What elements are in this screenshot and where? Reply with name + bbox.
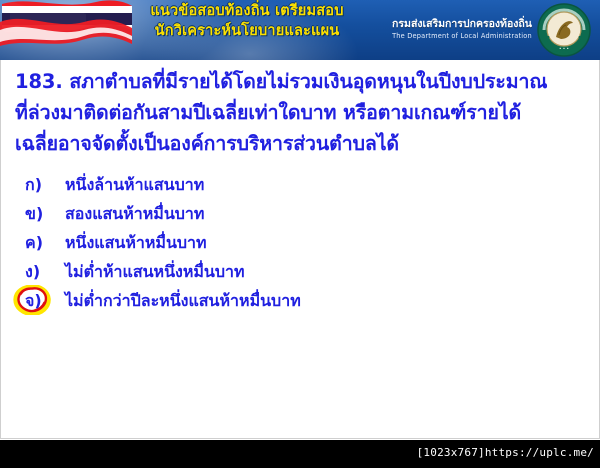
banner-title-line2: นักวิเคราะห์นโยบายและแผน	[112, 23, 382, 40]
choice-label: สองแสนห้าหมื่นบาท	[65, 202, 204, 227]
question-sheet: 183. สภาตำบลที่มีรายได้โดยไม่รวมเงินอุดห…	[0, 60, 600, 439]
choice-key: จ)	[25, 289, 65, 314]
choice-option-ngo[interactable]: ง) ไม่ต่ำห้าแสนหนึ่งหมื่นบาท	[25, 260, 585, 289]
choice-key: ง)	[25, 260, 65, 285]
banner-title: แนวข้อสอบท้องถิ่น เตรียมสอบ นักวิเคราะห์…	[112, 3, 382, 40]
choice-key: ข)	[25, 202, 65, 227]
choice-option-kho[interactable]: ข) สองแสนห้าหมื่นบาท	[25, 202, 585, 231]
choice-label: หนึ่งแสนห้าหมื่นบาท	[65, 231, 207, 256]
choice-option-cho-selected[interactable]: จ) ไม่ต่ำกว่าปีละหนึ่งแสนห้าหมื่นบาท	[25, 289, 585, 321]
department-emblem-icon: • • •	[536, 2, 592, 58]
choice-key: ก)	[25, 173, 65, 198]
question-line-1: 183. สภาตำบลที่มีรายได้โดยไม่รวมเงินอุดห…	[15, 66, 593, 97]
department-name-english: The Department of Local Administration	[388, 32, 536, 40]
header-banner: แนวข้อสอบท้องถิ่น เตรียมสอบ นักวิเคราะห์…	[0, 0, 600, 60]
question-line-3: เฉลี่ยอาจจัดตั้งเป็นองค์การบริหารส่วนตำบ…	[15, 128, 593, 159]
question-line-2: ที่ล่วงมาติดต่อกันสามปีเฉลี่ยเท่าใดบาท ห…	[15, 97, 593, 128]
slide-canvas: แนวข้อสอบท้องถิ่น เตรียมสอบ นักวิเคราะห์…	[0, 0, 600, 468]
choice-option-ka[interactable]: ก) หนึ่งล้านห้าแสนบาท	[25, 173, 585, 202]
footer-watermark-bar: [1023x767]https://uplc.me/	[0, 440, 600, 468]
banner-title-line1: แนวข้อสอบท้องถิ่น เตรียมสอบ	[112, 3, 382, 20]
department-name: กรมส่งเสริมการปกครองท้องถิ่น The Departm…	[388, 18, 536, 40]
watermark-label: [1023x767]https://uplc.me/	[417, 446, 594, 459]
choice-list: ก) หนึ่งล้านห้าแสนบาท ข) สองแสนห้าหมื่นบ…	[25, 173, 585, 321]
department-name-thai: กรมส่งเสริมการปกครองท้องถิ่น	[388, 18, 536, 30]
choice-label: หนึ่งล้านห้าแสนบาท	[65, 173, 204, 198]
choice-key: ค)	[25, 231, 65, 256]
choice-label: ไม่ต่ำห้าแสนหนึ่งหมื่นบาท	[65, 260, 245, 285]
choice-label: ไม่ต่ำกว่าปีละหนึ่งแสนห้าหมื่นบาท	[65, 289, 301, 314]
svg-text:• • •: • • •	[559, 46, 569, 51]
choice-option-kho-khwai[interactable]: ค) หนึ่งแสนห้าหมื่นบาท	[25, 231, 585, 260]
question-text: 183. สภาตำบลที่มีรายได้โดยไม่รวมเงินอุดห…	[15, 66, 593, 159]
